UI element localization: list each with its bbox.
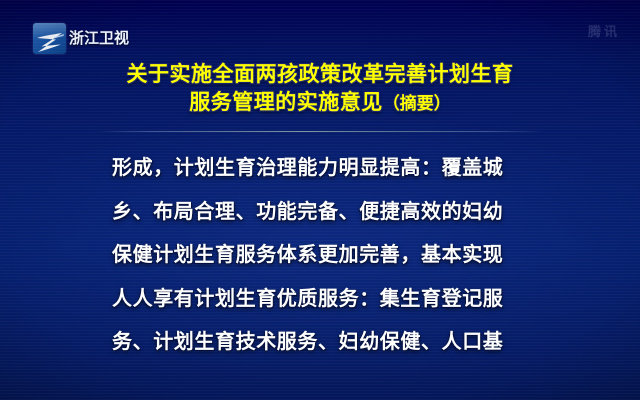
body-line: 务、计划生育技术服务、妇幼保健、人口基 xyxy=(112,320,532,364)
headline-line-2: 服务管理的实施意见（摘要） xyxy=(0,88,640,118)
body-line: 保健计划生育服务体系更加完善，基本实现 xyxy=(112,233,532,277)
channel-logo-text: 浙江卫视 xyxy=(69,31,129,46)
body-line: 形成，计划生育治理能力明显提高：覆盖城 xyxy=(112,146,532,190)
headline-line-2-suffix: （摘要） xyxy=(383,94,451,114)
headline-line-2-main: 服务管理的实施意见 xyxy=(189,90,383,114)
channel-logo-badge xyxy=(33,23,66,54)
title-divider xyxy=(95,131,545,132)
zhejiang-z-swoosh-icon xyxy=(35,31,65,53)
corner-watermark: 腾讯 xyxy=(588,21,620,40)
headline-line-1: 关于实施全面两孩政策改革完善计划生育 xyxy=(0,60,640,88)
headline: 关于实施全面两孩政策改革完善计划生育 服务管理的实施意见（摘要） xyxy=(0,60,640,118)
channel-logo: 浙江卫视 xyxy=(33,23,129,54)
broadcast-frame: 浙江卫视 腾讯 关于实施全面两孩政策改革完善计划生育 服务管理的实施意见（摘要）… xyxy=(0,0,640,400)
body-line: 人人享有计划生育优质服务：集生育登记服 xyxy=(112,277,532,321)
body-text: 形成，计划生育治理能力明显提高：覆盖城 乡、布局合理、功能完备、便捷高效的妇幼 … xyxy=(112,146,532,364)
body-line: 乡、布局合理、功能完备、便捷高效的妇幼 xyxy=(112,190,532,234)
